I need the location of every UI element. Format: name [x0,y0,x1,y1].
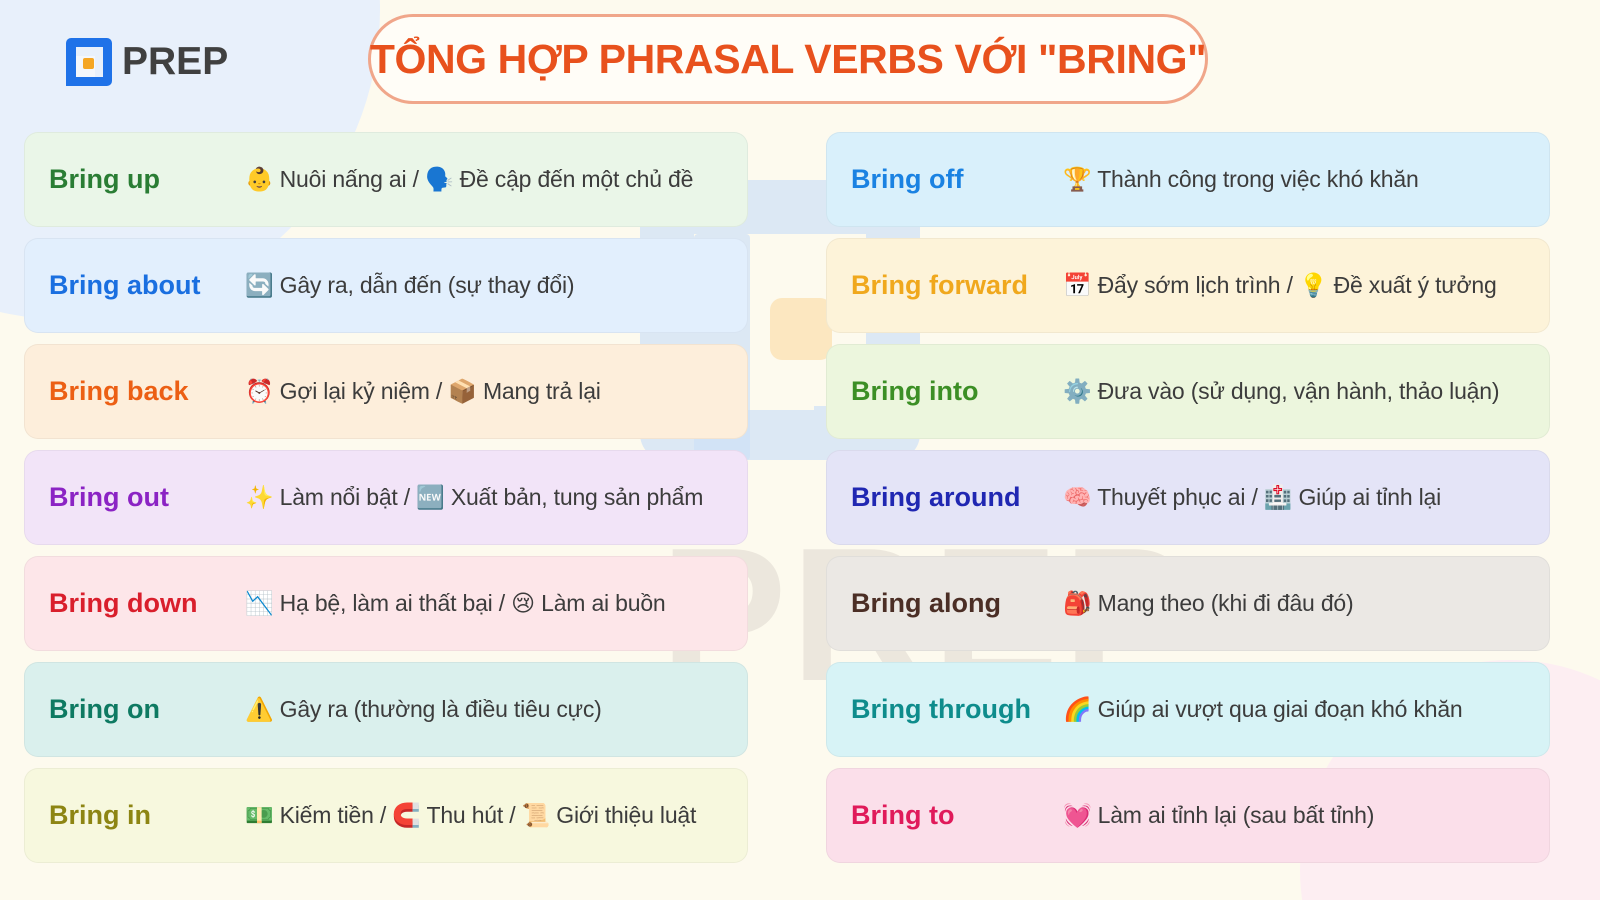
phrasal-verb-meaning: ⏰ Gợi lại kỷ niệm / 📦 Mang trả lại [245,378,601,405]
phrasal-verb-meaning: 💵 Kiếm tiền / 🧲 Thu hút / 📜 Giới thiệu l… [245,802,696,829]
phrasal-verb-row[interactable]: Bring through🌈 Giúp ai vượt qua giai đoạ… [826,662,1550,757]
page-header: PREP TỔNG HỢP PHRASAL VERBS VỚI "BRING" [0,0,1600,120]
phrasal-verb-label: Bring around [851,482,1063,513]
phrasal-verb-row[interactable]: Bring down📉 Hạ bệ, làm ai thất bại / 😢 L… [24,556,748,651]
phrasal-verb-label: Bring off [851,164,1063,195]
phrasal-verb-label: Bring out [49,482,245,513]
phrasal-verb-row[interactable]: Bring up👶 Nuôi nấng ai / 🗣️ Đề cập đến m… [24,132,748,227]
phrasal-verb-row[interactable]: Bring to💓 Làm ai tỉnh lại (sau bất tỉnh) [826,768,1550,863]
prep-logo-text: PREP [122,40,228,84]
phrasal-verb-label: Bring on [49,694,245,725]
phrasal-verb-meaning: 📉 Hạ bệ, làm ai thất bại / 😢 Làm ai buồn [245,590,666,617]
phrasal-verb-meaning: ✨ Làm nổi bật / 🆕 Xuất bản, tung sản phẩ… [245,484,703,511]
phrasal-verb-row[interactable]: Bring around🧠 Thuyết phục ai / 🏥 Giúp ai… [826,450,1550,545]
page-title: TỔNG HỢP PHRASAL VERBS VỚI "BRING" [370,36,1206,83]
phrasal-verb-label: Bring back [49,376,245,407]
left-column: Bring up👶 Nuôi nấng ai / 🗣️ Đề cập đến m… [24,132,748,863]
phrasal-verb-row[interactable]: Bring about🔄 Gây ra, dẫn đến (sự thay đổ… [24,238,748,333]
phrasal-verb-label: Bring along [851,588,1063,619]
phrasal-verb-label: Bring through [851,694,1063,725]
phrasal-verb-meaning: 🔄 Gây ra, dẫn đến (sự thay đổi) [245,272,574,299]
phrasal-verb-label: Bring to [851,800,1063,831]
phrasal-verb-meaning: 📅 Đẩy sớm lịch trình / 💡 Đề xuất ý tưởng [1063,272,1497,299]
phrasal-verb-label: Bring about [49,270,245,301]
phrasal-verb-meaning: 🏆 Thành công trong việc khó khăn [1063,166,1419,193]
phrasal-verb-meaning: 👶 Nuôi nấng ai / 🗣️ Đề cập đến một chủ đ… [245,166,693,193]
phrasal-verb-meaning: 🧠 Thuyết phục ai / 🏥 Giúp ai tỉnh lại [1063,484,1441,511]
prep-logo-icon [62,36,114,88]
phrasal-verb-row[interactable]: Bring on⚠️ Gây ra (thường là điều tiêu c… [24,662,748,757]
right-column: Bring off🏆 Thành công trong việc khó khă… [826,132,1550,863]
phrasal-verb-label: Bring forward [851,270,1063,301]
phrasal-verb-row[interactable]: Bring along🎒 Mang theo (khi đi đâu đó) [826,556,1550,651]
phrasal-verb-label: Bring in [49,800,245,831]
phrasal-verb-label: Bring into [851,376,1063,407]
phrasal-verb-meaning: 💓 Làm ai tỉnh lại (sau bất tỉnh) [1063,802,1374,829]
phrasal-verb-row[interactable]: Bring off🏆 Thành công trong việc khó khă… [826,132,1550,227]
phrasal-verb-grid: Bring up👶 Nuôi nấng ai / 🗣️ Đề cập đến m… [0,132,1600,863]
phrasal-verb-label: Bring up [49,164,245,195]
phrasal-verb-row[interactable]: Bring into⚙️ Đưa vào (sử dụng, vận hành,… [826,344,1550,439]
phrasal-verb-meaning: 🌈 Giúp ai vượt qua giai đoạn khó khăn [1063,696,1463,723]
phrasal-verb-meaning: ⚠️ Gây ra (thường là điều tiêu cực) [245,696,602,723]
phrasal-verb-row[interactable]: Bring back⏰ Gợi lại kỷ niệm / 📦 Mang trả… [24,344,748,439]
prep-logo: PREP [62,36,228,88]
phrasal-verb-row[interactable]: Bring forward📅 Đẩy sớm lịch trình / 💡 Đề… [826,238,1550,333]
phrasal-verb-label: Bring down [49,588,245,619]
logo-orange-dot [83,58,94,69]
phrasal-verb-row[interactable]: Bring in💵 Kiếm tiền / 🧲 Thu hút / 📜 Giới… [24,768,748,863]
title-pill: TỔNG HỢP PHRASAL VERBS VỚI "BRING" [368,14,1208,104]
phrasal-verb-row[interactable]: Bring out✨ Làm nổi bật / 🆕 Xuất bản, tun… [24,450,748,545]
logo-stem [66,46,76,86]
phrasal-verb-meaning: ⚙️ Đưa vào (sử dụng, vận hành, thảo luận… [1063,378,1499,405]
phrasal-verb-meaning: 🎒 Mang theo (khi đi đâu đó) [1063,590,1353,617]
